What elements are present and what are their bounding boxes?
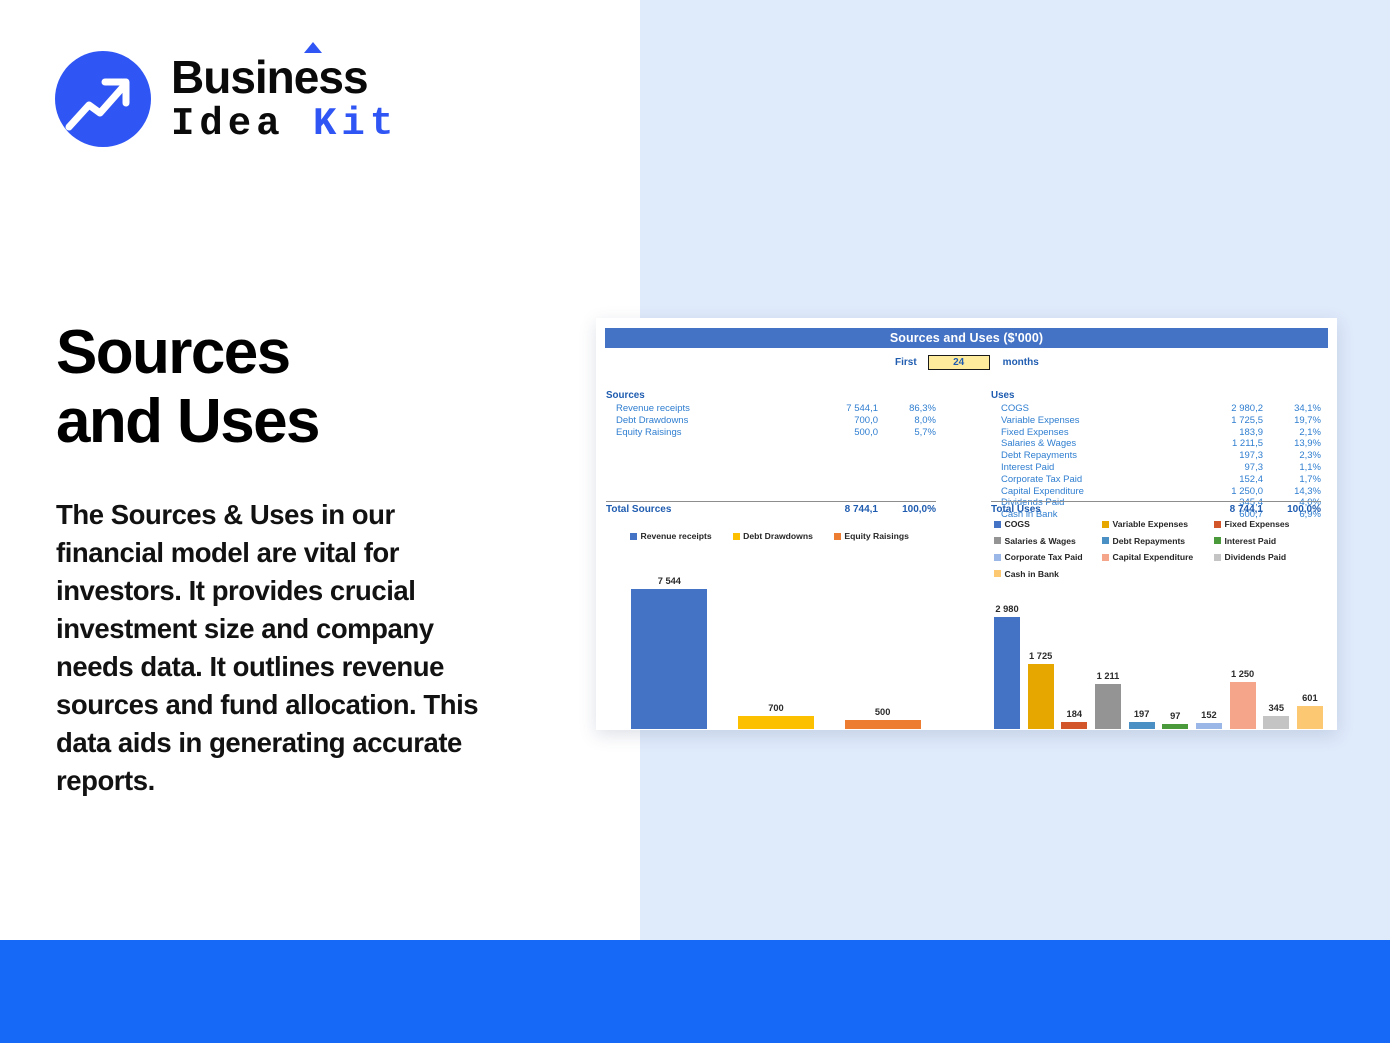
legend-label: Revenue receipts <box>641 531 712 541</box>
spreadsheet-card: Sources and Uses ($'000) First 24 months… <box>596 318 1337 730</box>
row-label: Debt Repayments <box>991 450 1177 462</box>
legend-swatch-icon <box>994 521 1001 528</box>
row-value: 500,0 <box>792 427 878 439</box>
legend-swatch-icon <box>1102 537 1109 544</box>
uses-total-value: 8 744,1 <box>1177 504 1263 516</box>
row-percent: 1,1% <box>1263 462 1321 474</box>
spreadsheet-title: Sources and Uses ($'000) <box>605 328 1328 348</box>
bar-value-label: 700 <box>768 703 784 713</box>
brand-logo: Business Idea Kit <box>55 51 398 147</box>
table-row: Salaries & Wages1 211,513,9% <box>991 438 1321 450</box>
bar <box>1095 684 1121 730</box>
legend-swatch-icon <box>733 533 740 540</box>
bar-value-label: 97 <box>1170 711 1180 721</box>
row-value: 97,3 <box>1177 462 1263 474</box>
bar <box>1162 724 1188 729</box>
row-percent: 8,0% <box>878 415 936 427</box>
legend-swatch-icon <box>994 537 1001 544</box>
uses-table-header: Uses <box>991 390 1321 401</box>
bar <box>1061 722 1087 729</box>
bar-value-label: 152 <box>1201 710 1217 720</box>
row-percent: 19,7% <box>1263 415 1321 427</box>
uses-total-pct: 100,0% <box>1263 504 1321 516</box>
bar <box>994 617 1020 729</box>
period-prefix-label: First <box>895 357 917 368</box>
brand-name-line1: Business <box>171 54 398 100</box>
table-row: Variable Expenses1 725,519,7% <box>991 415 1321 427</box>
legend-label: Debt Drawdowns <box>743 531 813 541</box>
bar-value-label: 345 <box>1268 703 1284 713</box>
table-row: Debt Drawdowns700,08,0% <box>606 415 936 427</box>
legend-label: Capital Expenditure <box>1113 552 1194 562</box>
table-row: Debt Repayments197,32,3% <box>991 450 1321 462</box>
bar <box>1297 706 1323 729</box>
legend-item[interactable]: Equity Raisings <box>834 531 909 541</box>
sources-table: Sources Revenue receipts7 544,186,3%Debt… <box>606 390 936 438</box>
bar-column: 700 <box>738 569 814 729</box>
bar-value-label: 7 544 <box>658 576 681 586</box>
bar-column: 1 211 <box>1095 569 1121 729</box>
legend-item[interactable]: Interest Paid <box>1214 536 1319 546</box>
legend-item[interactable]: Dividends Paid <box>1214 552 1319 562</box>
legend-label: Corporate Tax Paid <box>1005 552 1083 562</box>
table-row: Corporate Tax Paid152,41,7% <box>991 474 1321 486</box>
bar <box>1028 664 1054 729</box>
bar <box>1196 723 1222 729</box>
legend-swatch-icon <box>1214 554 1221 561</box>
bar-column: 1 250 <box>1230 569 1256 729</box>
period-suffix-label: months <box>1003 357 1039 368</box>
brand-name-line2: Idea Kit <box>171 105 398 144</box>
bar-column: 500 <box>845 569 921 729</box>
bar-column: 1 725 <box>1028 569 1054 729</box>
bar-value-label: 197 <box>1134 709 1150 719</box>
brand-name-text: Business <box>171 51 368 103</box>
legend-item[interactable]: Corporate Tax Paid <box>994 552 1102 562</box>
bar-column: 152 <box>1196 569 1222 729</box>
row-percent: 34,1% <box>1263 403 1321 415</box>
sources-total-row: Total Sources 8 744,1 100,0% <box>606 501 936 516</box>
uses-total-label: Total Uses <box>991 504 1177 516</box>
table-row: Equity Raisings500,05,7% <box>606 427 936 439</box>
legend-swatch-icon <box>1102 554 1109 561</box>
page-description: The Sources & Uses in our financial mode… <box>56 496 506 800</box>
row-value: 183,9 <box>1177 427 1263 439</box>
brand-kit-text: Kit <box>313 102 398 146</box>
row-label: Salaries & Wages <box>991 438 1177 450</box>
legend-label: COGS <box>1005 519 1030 529</box>
bar <box>738 716 814 729</box>
legend-label: Interest Paid <box>1225 536 1277 546</box>
bar <box>631 589 707 729</box>
row-percent: 14,3% <box>1263 486 1321 498</box>
legend-swatch-icon <box>630 533 637 540</box>
bar-column: 7 544 <box>631 569 707 729</box>
bar-column: 601 <box>1297 569 1323 729</box>
row-percent: 2,1% <box>1263 427 1321 439</box>
legend-item[interactable]: Salaries & Wages <box>994 536 1102 546</box>
sources-total-value: 8 744,1 <box>792 504 878 516</box>
bar-value-label: 184 <box>1067 709 1083 719</box>
bar-column: 197 <box>1129 569 1155 729</box>
table-row: Capital Expenditure1 250,014,3% <box>991 486 1321 498</box>
row-value: 152,4 <box>1177 474 1263 486</box>
caret-accent-icon <box>304 42 322 53</box>
page-title: Sourcesand Uses <box>56 318 576 457</box>
legend-swatch-icon <box>1102 521 1109 528</box>
table-row: Fixed Expenses183,92,1% <box>991 427 1321 439</box>
row-label: Interest Paid <box>991 462 1177 474</box>
bar <box>1263 716 1289 729</box>
bar-column: 184 <box>1061 569 1087 729</box>
row-value: 197,3 <box>1177 450 1263 462</box>
legend-swatch-icon <box>1214 521 1221 528</box>
growth-chart-icon <box>55 51 151 147</box>
row-percent: 2,3% <box>1263 450 1321 462</box>
bar-value-label: 500 <box>875 707 891 717</box>
footer-band <box>0 940 1390 1043</box>
period-selector-row: First 24 months <box>605 353 1328 371</box>
bar-value-label: 601 <box>1302 693 1318 703</box>
bar-value-label: 1 250 <box>1231 669 1254 679</box>
row-percent: 13,9% <box>1263 438 1321 450</box>
bar <box>1129 722 1155 729</box>
bar-value-label: 1 211 <box>1097 671 1120 681</box>
sources-bar-chart: 7 544700500 <box>616 569 936 729</box>
sources-total-label: Total Sources <box>606 504 792 516</box>
row-label: Revenue receipts <box>606 403 792 415</box>
legend-swatch-icon <box>834 533 841 540</box>
legend-item[interactable]: Capital Expenditure <box>1102 552 1214 562</box>
sources-rows: Revenue receipts7 544,186,3%Debt Drawdow… <box>606 403 936 438</box>
uses-total-row: Total Uses 8 744,1 100,0% <box>991 501 1321 516</box>
legend-swatch-icon <box>1214 537 1221 544</box>
brand-idea-text: Idea <box>171 102 285 146</box>
row-value: 7 544,1 <box>792 403 878 415</box>
sources-table-header: Sources <box>606 390 936 401</box>
row-value: 700,0 <box>792 415 878 427</box>
legend-item[interactable]: Fixed Expenses <box>1214 519 1319 529</box>
row-value: 1 725,5 <box>1177 415 1263 427</box>
legend-label: Salaries & Wages <box>1005 536 1076 546</box>
bar-column: 2 980 <box>994 569 1020 729</box>
bar-value-label: 2 980 <box>995 604 1018 614</box>
legend-item[interactable]: Debt Drawdowns <box>733 531 813 541</box>
row-value: 1 250,0 <box>1177 486 1263 498</box>
table-row: Interest Paid97,31,1% <box>991 462 1321 474</box>
row-label: Debt Drawdowns <box>606 415 792 427</box>
row-label: Variable Expenses <box>991 415 1177 427</box>
row-percent: 86,3% <box>878 403 936 415</box>
legend-item[interactable]: COGS <box>994 519 1102 529</box>
bar <box>1230 682 1256 729</box>
row-value: 2 980,2 <box>1177 403 1263 415</box>
row-percent: 1,7% <box>1263 474 1321 486</box>
row-label: Capital Expenditure <box>991 486 1177 498</box>
legend-label: Equity Raisings <box>844 531 908 541</box>
row-value: 1 211,5 <box>1177 438 1263 450</box>
legend-item[interactable]: Revenue receipts <box>630 531 712 541</box>
sources-chart-legend: Revenue receiptsDebt DrawdownsEquity Rai… <box>630 531 930 541</box>
legend-label: Dividends Paid <box>1225 552 1287 562</box>
legend-label: Debt Repayments <box>1113 536 1186 546</box>
row-percent: 5,7% <box>878 427 936 439</box>
uses-bar-chart: 2 9801 7251841 211197971521 250345601 <box>986 569 1331 729</box>
table-row: Revenue receipts7 544,186,3% <box>606 403 936 415</box>
legend-item[interactable]: Variable Expenses <box>1102 519 1214 529</box>
sources-total-pct: 100,0% <box>878 504 936 516</box>
bar-column: 97 <box>1162 569 1188 729</box>
legend-swatch-icon <box>994 554 1001 561</box>
row-label: COGS <box>991 403 1177 415</box>
row-label: Corporate Tax Paid <box>991 474 1177 486</box>
row-label: Equity Raisings <box>606 427 792 439</box>
bar <box>845 720 921 729</box>
period-months-input[interactable]: 24 <box>928 355 990 370</box>
legend-label: Variable Expenses <box>1113 519 1188 529</box>
legend-label: Fixed Expenses <box>1225 519 1290 529</box>
table-row: COGS2 980,234,1% <box>991 403 1321 415</box>
legend-item[interactable]: Debt Repayments <box>1102 536 1214 546</box>
bar-value-label: 1 725 <box>1029 651 1052 661</box>
bar-column: 345 <box>1263 569 1289 729</box>
row-label: Fixed Expenses <box>991 427 1177 439</box>
